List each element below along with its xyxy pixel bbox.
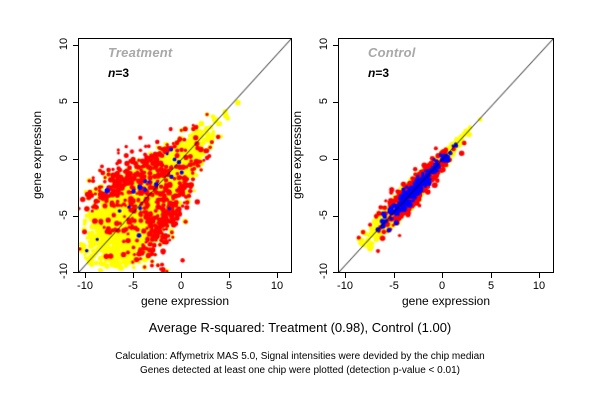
xtick-label: -10	[325, 280, 365, 292]
ytick-label: 5	[318, 81, 330, 121]
panel-title-control: Control	[368, 45, 416, 60]
xtick-label: 10	[519, 280, 559, 292]
figure-root: Treatment n=3 -10 -5 0 5 10 gene express…	[0, 0, 600, 400]
xtick-label: 0	[422, 280, 462, 292]
panel-n-control: n=3	[368, 66, 389, 80]
ytick-mark	[333, 272, 338, 273]
xtick-mark	[394, 273, 395, 278]
caption-sub-line-1: Calculation: Affymetrix MAS 5.0, Signal …	[0, 351, 600, 362]
ytick-label: -5	[318, 195, 330, 235]
xtick-label: 5	[471, 280, 511, 292]
ytick-label: 0	[318, 138, 330, 178]
y-axis-title-control: gene expression	[290, 75, 304, 235]
ytick-mark	[333, 159, 338, 160]
ytick-mark	[333, 102, 338, 103]
xtick-mark	[491, 273, 492, 278]
xtick-mark	[442, 273, 443, 278]
xtick-mark	[345, 273, 346, 278]
ytick-label: 10	[318, 24, 330, 64]
caption-sub-line-2: Genes detected at least one chip were pl…	[0, 365, 600, 376]
panel-control: Control n=3 -10 -5 0 5 10 gene expressio…	[0, 0, 600, 310]
caption-main: Average R-squared: Treatment (0.98), Con…	[0, 320, 600, 335]
ytick-mark	[333, 45, 338, 46]
xtick-mark	[539, 273, 540, 278]
ytick-label: -10	[318, 251, 330, 291]
x-axis-title-control: gene expression	[366, 294, 526, 308]
xtick-label: -5	[374, 280, 414, 292]
ytick-mark	[333, 216, 338, 217]
